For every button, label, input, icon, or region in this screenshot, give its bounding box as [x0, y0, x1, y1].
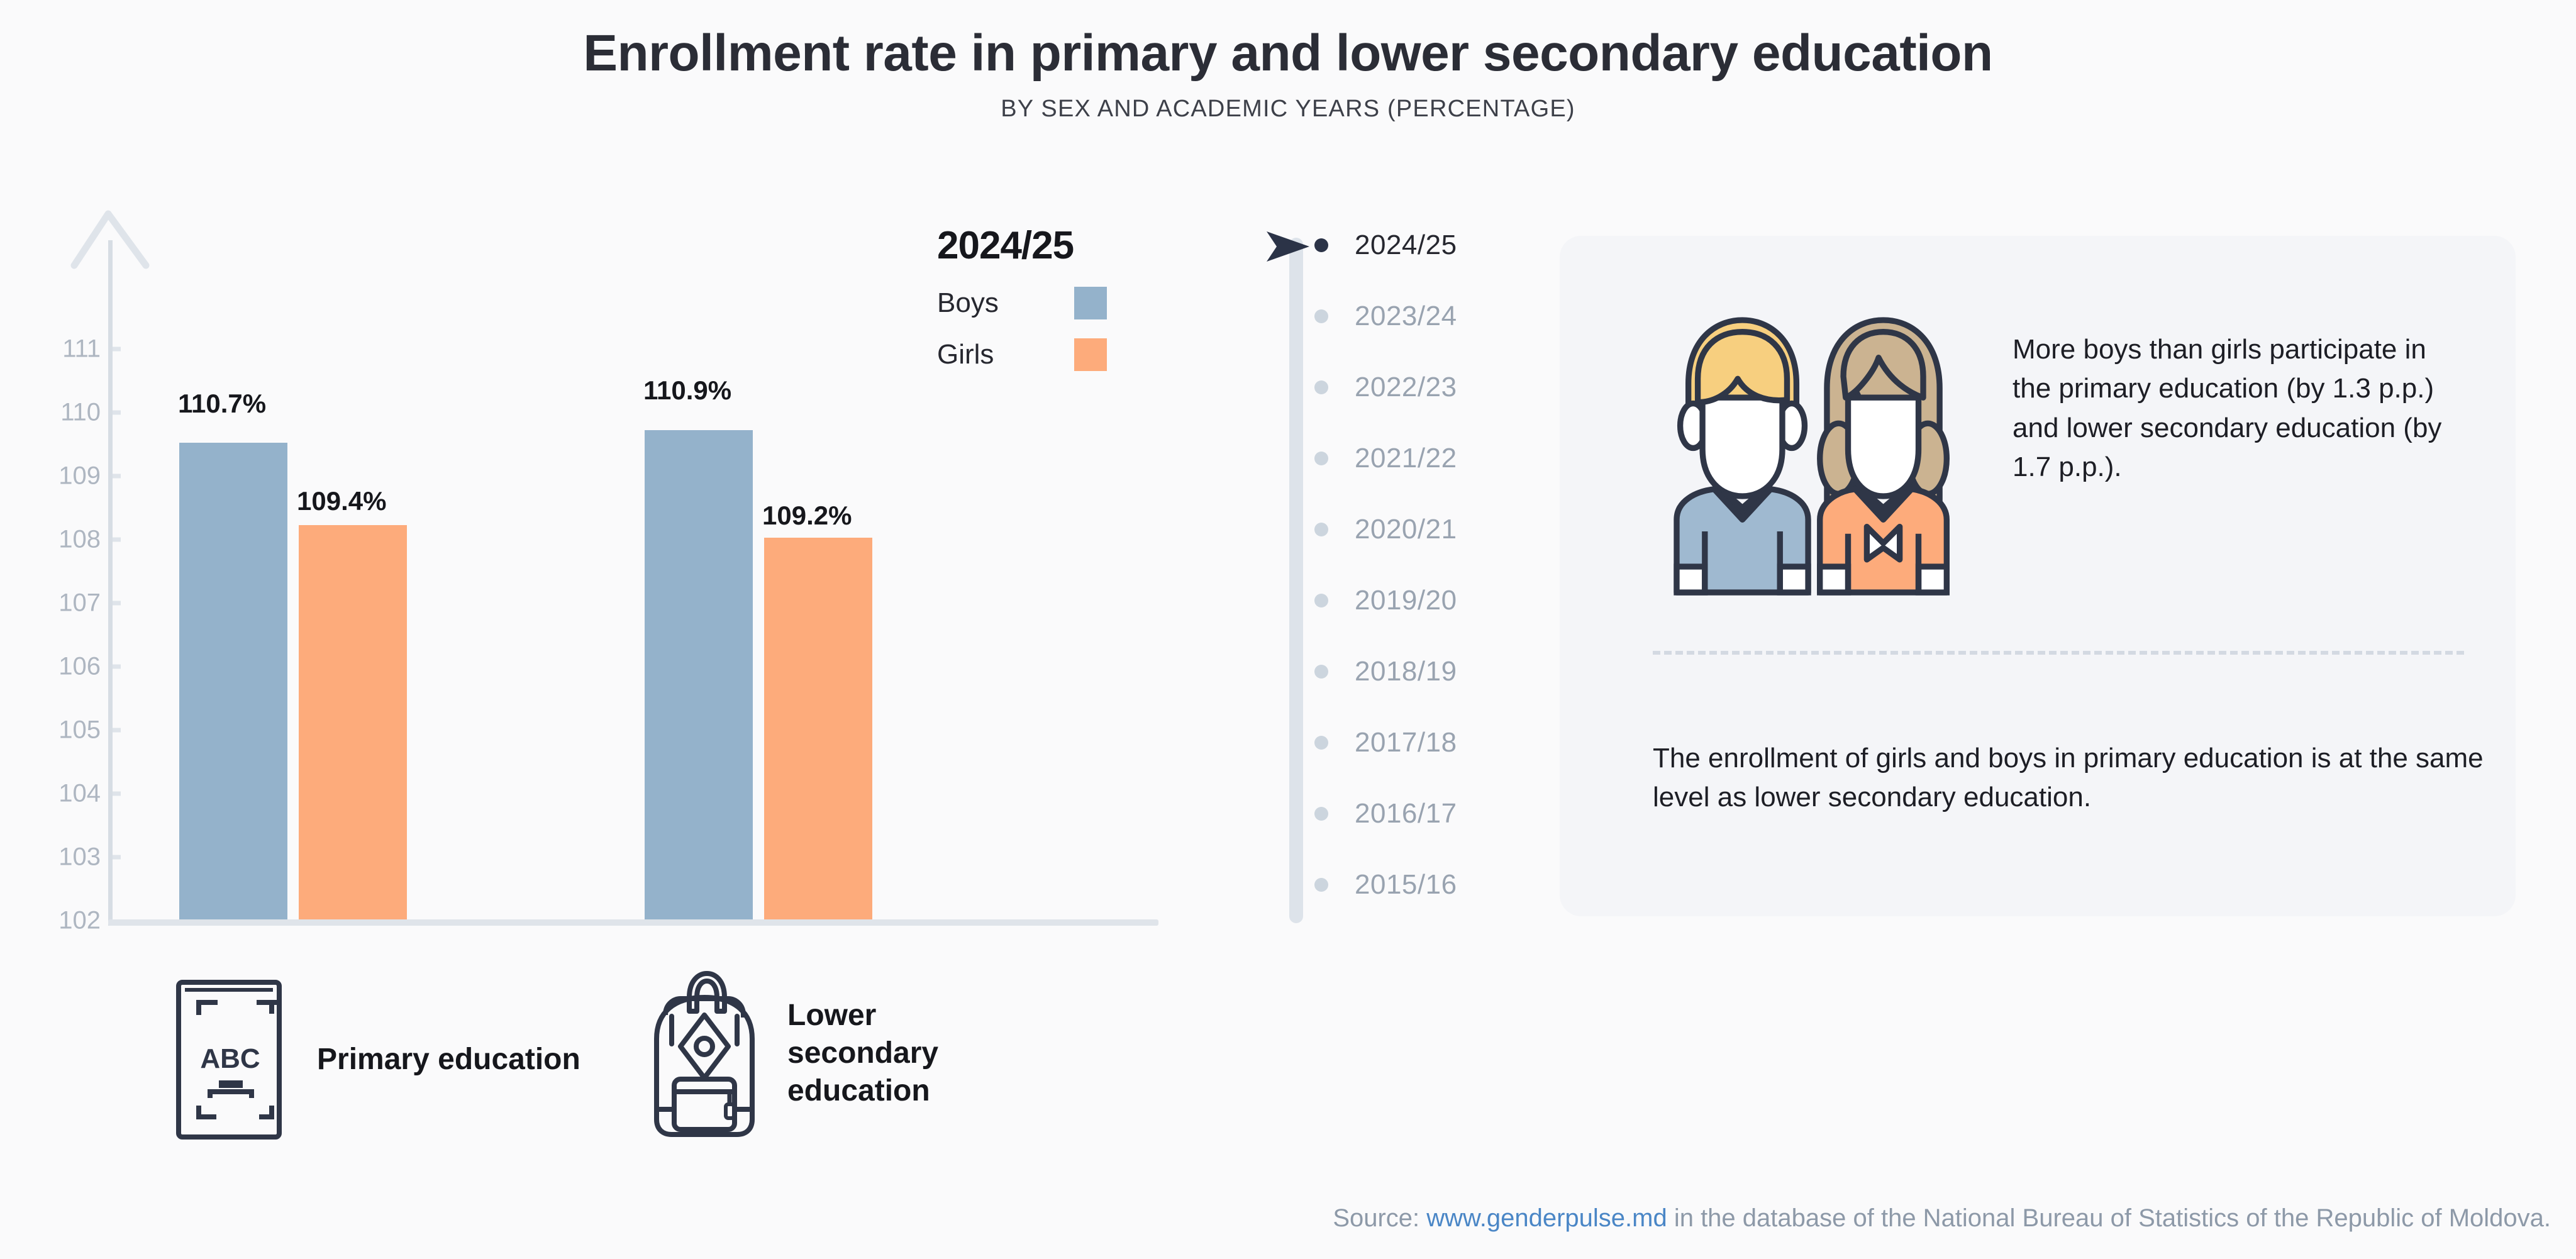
year-option-2019-20[interactable]: 2019/20 — [1314, 582, 1457, 619]
year-bullet-icon — [1314, 380, 1328, 394]
legend-label-girls: Girls — [937, 339, 1074, 370]
x-axis-baseline — [108, 919, 1158, 926]
y-tick-label: 103 — [19, 843, 101, 872]
y-tick-mark — [113, 601, 121, 606]
source-link[interactable]: www.genderpulse.md — [1426, 1204, 1667, 1232]
year-slider-track[interactable] — [1289, 238, 1303, 923]
year-bullet-icon — [1314, 807, 1328, 821]
year-label: 2018/19 — [1355, 656, 1457, 687]
y-tick-label: 105 — [19, 716, 101, 745]
source-prefix: Source: — [1333, 1204, 1426, 1232]
year-label: 2023/24 — [1355, 301, 1457, 332]
year-option-2017-18[interactable]: 2017/18 — [1314, 724, 1457, 762]
insight-highlight-row: More boys than girls participate in the … — [1560, 285, 2453, 602]
year-selector[interactable]: 2024/25 2023/24 2022/23 2021/22 2020/21 … — [1277, 226, 1541, 924]
year-label: 2021/22 — [1355, 443, 1457, 474]
y-tick-mark — [113, 411, 121, 415]
year-option-2022-23[interactable]: 2022/23 — [1314, 369, 1457, 406]
svg-text:ABC: ABC — [200, 1043, 260, 1074]
y-tick-mark — [113, 855, 121, 860]
pointer-arrow-icon — [1263, 228, 1313, 265]
year-bullet-icon — [1314, 594, 1328, 607]
boy-and-girl-icon — [1641, 285, 1994, 602]
y-tick-label: 108 — [19, 526, 101, 554]
insight-divider — [1653, 651, 2464, 655]
y-tick-label: 107 — [19, 589, 101, 618]
y-tick-label: 110 — [19, 399, 101, 427]
page-header: Enrollment rate in primary and lower sec… — [0, 25, 2576, 123]
year-option-2021-22[interactable]: 2021/22 — [1314, 440, 1457, 477]
y-tick-mark — [113, 538, 121, 542]
year-option-2024-25[interactable]: 2024/25 — [1314, 226, 1457, 264]
legend-label-boys: Boys — [937, 287, 1074, 319]
source-suffix: in the database of the National Bureau o… — [1667, 1204, 2551, 1232]
year-bullet-icon — [1314, 736, 1328, 750]
y-tick-mark — [113, 728, 121, 733]
chart-legend: 2024/25 Boys Girls — [937, 223, 1157, 371]
year-option-2015-16[interactable]: 2015/16 — [1314, 866, 1457, 904]
y-tick-label: 104 — [19, 780, 101, 808]
y-tick-label: 106 — [19, 653, 101, 681]
category-lower-secondary-education: Lower secondary education — [635, 962, 938, 1145]
book-abc-icon: ABC — [171, 975, 291, 1145]
insight-panel: More boys than girls participate in the … — [1560, 236, 2516, 916]
backpack-icon — [635, 962, 761, 1145]
y-tick-label: 111 — [19, 335, 101, 363]
year-label: 2020/21 — [1355, 514, 1457, 545]
category-label-lower-secondary: Lower secondary education — [787, 997, 938, 1110]
year-option-2020-21[interactable]: 2020/21 — [1314, 511, 1457, 548]
year-bullet-icon — [1314, 238, 1328, 252]
y-tick-mark — [113, 665, 121, 669]
bar-value-boys-primary: 110.7% — [178, 389, 266, 419]
legend-swatch-girls — [1074, 338, 1107, 371]
bar-boys-lower-secondary[interactable] — [645, 430, 753, 919]
year-bullet-icon — [1314, 309, 1328, 323]
year-option-2018-19[interactable]: 2018/19 — [1314, 653, 1457, 691]
category-legend: ABC Primary education Lower secondary ed… — [0, 962, 1069, 1157]
insight-highlight-text: More boys than girls participate in the … — [2012, 330, 2453, 487]
y-tick-mark — [113, 347, 121, 352]
legend-item-boys[interactable]: Boys — [937, 287, 1107, 319]
y-axis-tick-labels: 111 110 109 108 107 106 105 104 103 102 — [0, 208, 101, 931]
category-label-primary: Primary education — [317, 1041, 580, 1079]
year-label: 2017/18 — [1355, 727, 1457, 758]
year-label: 2016/17 — [1355, 798, 1457, 829]
year-label: 2024/25 — [1355, 230, 1457, 261]
y-tick-label: 109 — [19, 462, 101, 491]
page-title: Enrollment rate in primary and lower sec… — [0, 25, 2576, 82]
y-tick-mark — [113, 792, 121, 796]
source-footer: Source: www.genderpulse.md in the databa… — [1333, 1204, 2551, 1233]
y-tick-label: 102 — [19, 907, 101, 935]
year-label: 2022/23 — [1355, 372, 1457, 403]
legend-swatch-boys — [1074, 287, 1107, 319]
year-label: 2015/16 — [1355, 869, 1457, 901]
bar-value-girls-lower-secondary: 109.2% — [762, 501, 852, 531]
year-bullet-icon — [1314, 878, 1328, 892]
year-option-2016-17[interactable]: 2016/17 — [1314, 795, 1457, 833]
year-bullet-icon — [1314, 452, 1328, 465]
insight-note-text: The enrollment of girls and boys in prim… — [1653, 739, 2502, 818]
y-axis-line — [108, 240, 113, 926]
y-tick-mark — [113, 474, 121, 479]
year-bullet-icon — [1314, 523, 1328, 536]
bar-value-boys-lower-secondary: 110.9% — [643, 375, 731, 406]
year-bullet-icon — [1314, 665, 1328, 679]
page-subtitle: BY SEX AND ACADEMIC YEARS (PERCENTAGE) — [0, 96, 2576, 123]
year-label: 2019/20 — [1355, 585, 1457, 616]
bar-girls-primary[interactable] — [299, 525, 407, 919]
legend-selected-year: 2024/25 — [937, 223, 1157, 268]
legend-item-girls[interactable]: Girls — [937, 338, 1107, 371]
category-primary-education: ABC Primary education — [171, 975, 580, 1145]
year-option-2023-24[interactable]: 2023/24 — [1314, 297, 1457, 335]
bar-girls-lower-secondary[interactable] — [764, 538, 872, 919]
bar-boys-primary[interactable] — [179, 443, 287, 919]
bar-value-girls-primary: 109.4% — [297, 486, 386, 516]
